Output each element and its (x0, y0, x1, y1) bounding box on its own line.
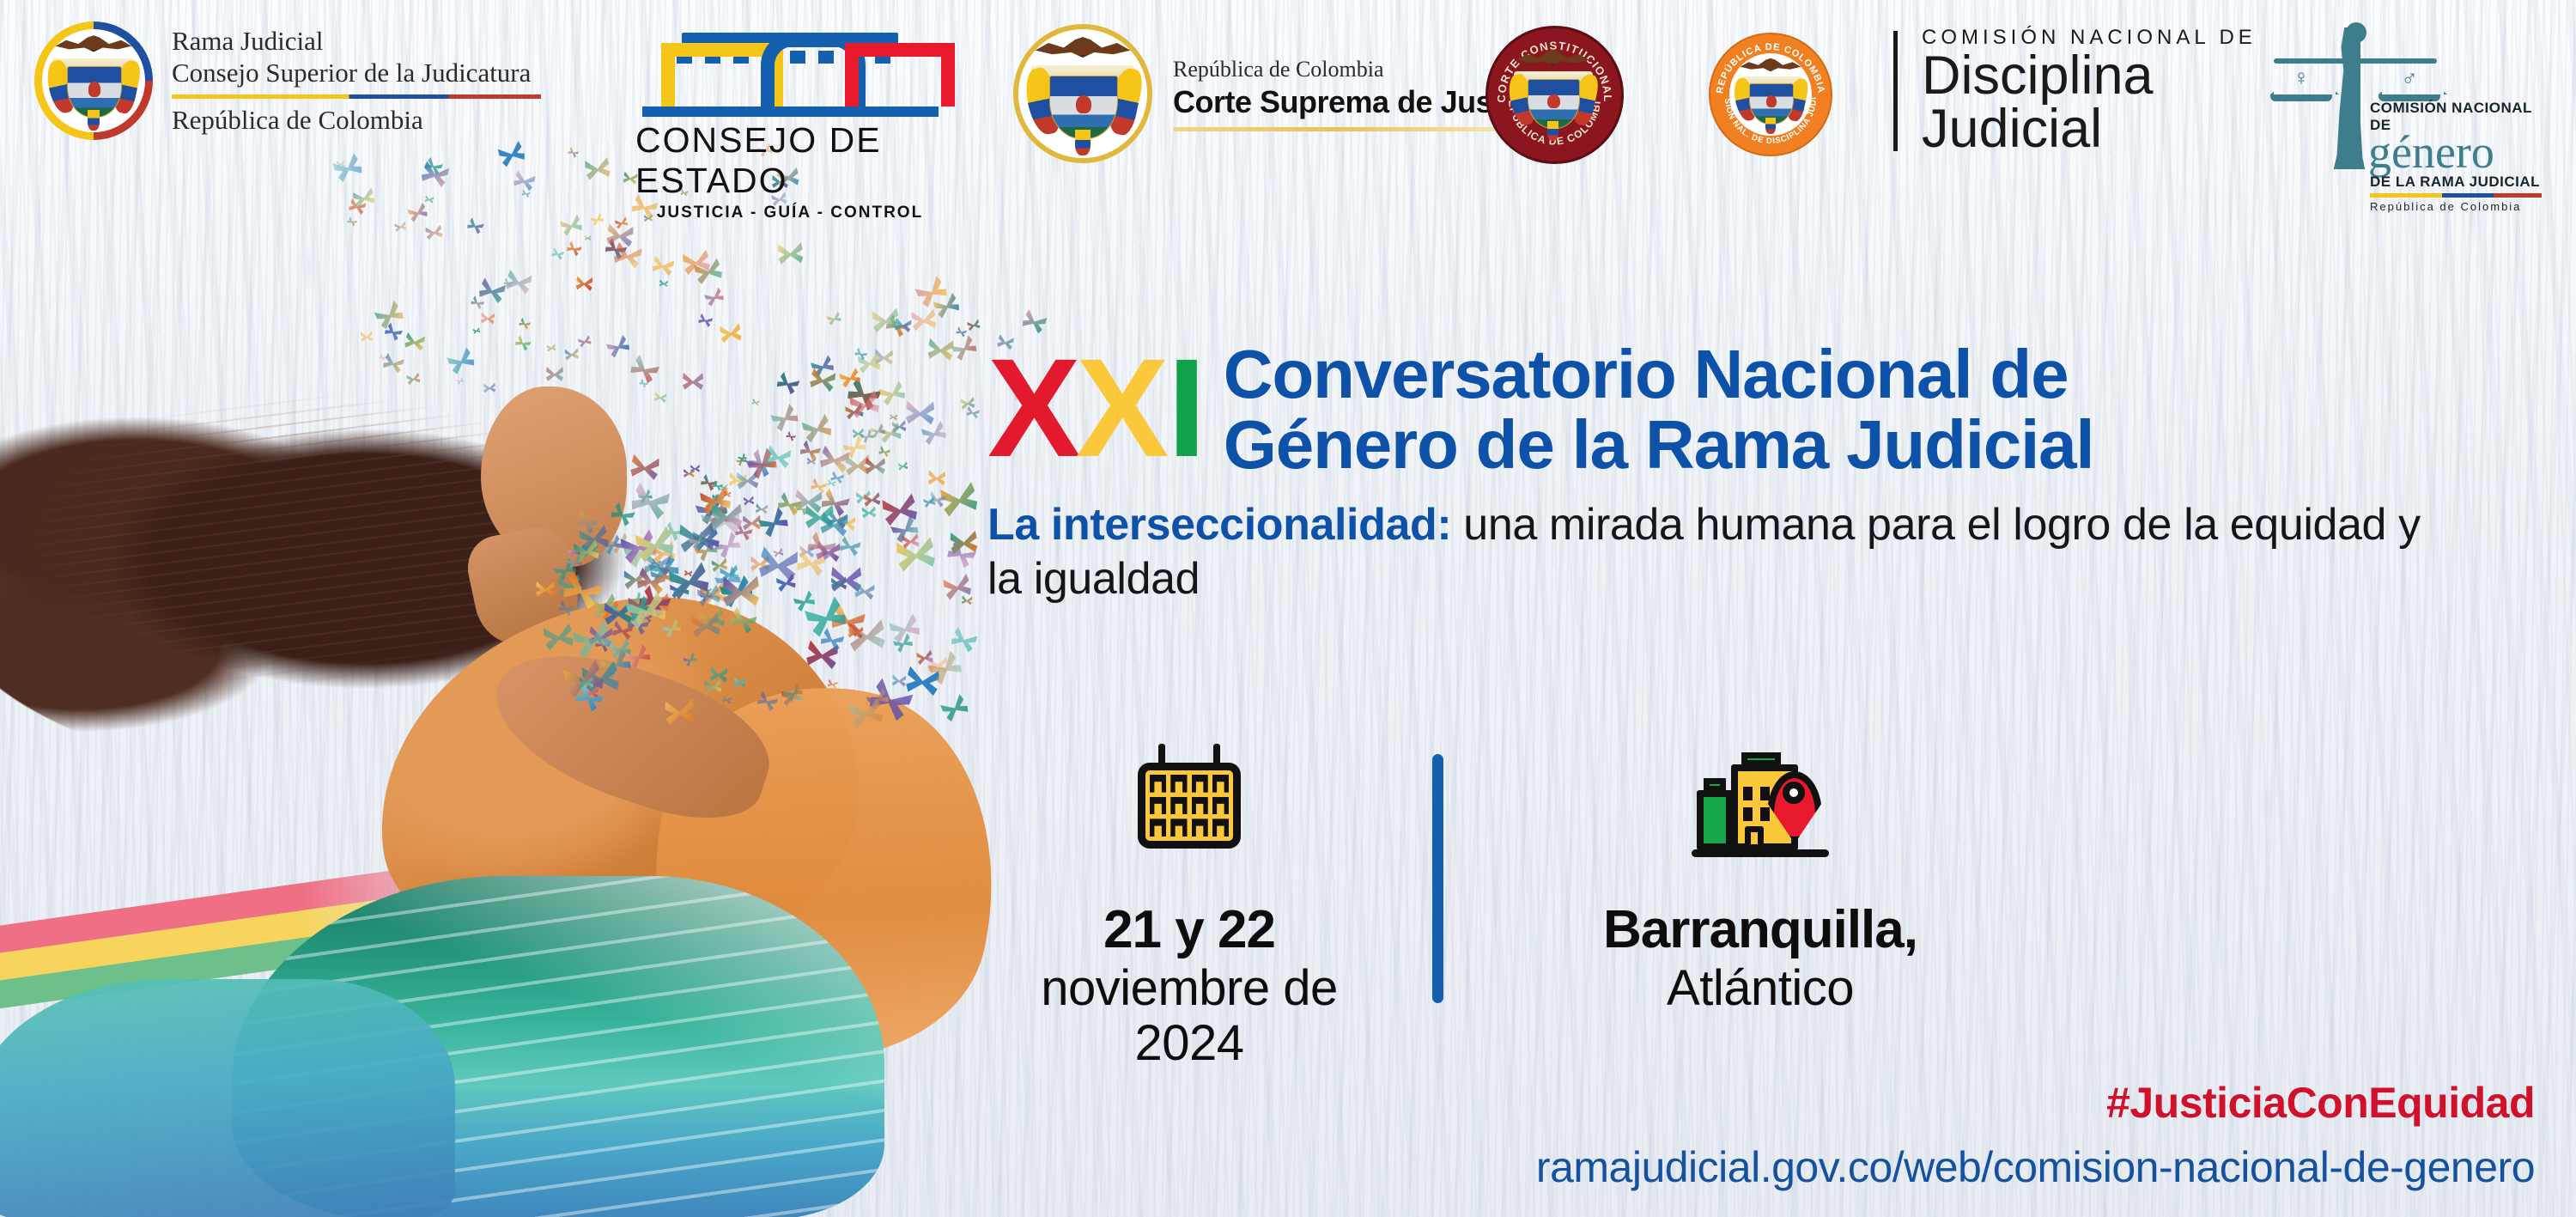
institutional-logo-bar: Rama Judicial Consejo Superior de la Jud… (0, 0, 2576, 210)
butterfly-icon (743, 496, 754, 505)
numeral-x1: X (987, 348, 1076, 468)
butterfly-icon (483, 383, 496, 393)
butterfly-icon (723, 576, 760, 607)
butterfly-icon (612, 241, 643, 269)
corte-suprema-seal-icon (1013, 24, 1152, 163)
butterfly-icon (712, 503, 743, 528)
butterfly-icon (950, 531, 978, 554)
butterfly-icon (854, 581, 876, 599)
location-block: Barranquilla, Atlántico (1537, 756, 1984, 1016)
butterfly-icon (697, 313, 714, 328)
event-title-block: X X I Conversatorio Nacional de Género d… (987, 339, 2559, 605)
genero-word: género (2368, 132, 2550, 172)
butterfly-icon (890, 414, 898, 421)
butterfly-icon (550, 247, 564, 260)
butterfly-icon (703, 287, 725, 307)
butterfly-icon (751, 399, 760, 406)
roman-numeral-xxi: X X I (987, 348, 1201, 468)
consejo-de-estado-tagline: JUSTICIA - GUÍA - CONTROL (657, 204, 923, 222)
butterfly-icon (939, 482, 980, 518)
butterfly-icon (830, 576, 847, 590)
disciplina-judicial-seal-icon: REPÚBLICA DE COLOMBIA COMISIÓN NAL. DE D… (1709, 33, 1832, 156)
butterfly-icon (862, 506, 877, 518)
butterfly-icon (809, 368, 837, 392)
butterfly-icon (724, 491, 732, 498)
woman-with-butterflies-illustration (0, 326, 987, 1217)
butterfly-icon (848, 625, 863, 638)
butterfly-icon (720, 323, 743, 343)
butterfly-icon (546, 344, 556, 351)
butterfly-icon (927, 470, 945, 486)
gold-rule (1173, 127, 1499, 131)
butterfly-icon (629, 454, 660, 481)
butterfly-icon (807, 458, 816, 466)
logo-comision-nacional-de-genero: ♀ ♂ COMISIÓN NACIONAL DE género DE LA RA… (2267, 24, 2550, 183)
butterfly-icon (927, 338, 954, 362)
arch-building-icon (642, 33, 939, 117)
butterfly-icon (923, 496, 937, 508)
butterfly-icon (605, 334, 631, 358)
female-symbol-icon: ♀ (2293, 64, 2310, 91)
calendar-icon (1138, 756, 1241, 850)
butterfly-icon (819, 512, 848, 537)
butterfly-icon (878, 446, 891, 458)
butterfly-icon (906, 401, 935, 425)
disciplina-line2: Judicial (1922, 103, 2257, 156)
butterfly-icon (950, 626, 979, 653)
butterfly-icon (536, 581, 555, 597)
butterfly-icon (777, 242, 804, 265)
date-block: 21 y 22 noviembre de 2024 (987, 756, 1391, 1071)
department-name: Atlántico (1537, 961, 1984, 1016)
butterfly-icon (665, 698, 696, 725)
numeral-x2: X (1076, 348, 1164, 468)
logo-consejo-de-estado: CONSEJO DE ESTADO JUSTICIA - GUÍA - CONT… (635, 33, 945, 222)
rama-judicial-line3: República de Colombia (172, 105, 541, 136)
butterfly-icon (579, 676, 593, 688)
butterfly-icon (755, 503, 768, 514)
butterfly-icon (734, 678, 745, 687)
butterfly-icon (786, 431, 797, 441)
city-name: Barranquilla, (1537, 902, 1984, 958)
corte-constitucional-seal-icon: CORTE CONSTITUCIONAL REPÚBLICA DE COLOMB… (1485, 26, 1624, 164)
logo-disciplina-judicial-wordmark: COMISIÓN NACIONAL DE Disciplina Judicial (1893, 26, 2257, 155)
butterfly-icon (704, 678, 722, 694)
title-line-2: Género de la Rama Judicial (1224, 410, 2094, 480)
butterfly-icon (757, 546, 799, 582)
butterfly-icon (690, 612, 720, 638)
butterfly-icon (683, 469, 695, 478)
butterfly-icon (775, 372, 800, 396)
genero-line2: DE LA RAMA JUDICIAL (2370, 173, 2550, 191)
vertical-rule (1893, 31, 1898, 151)
butterfly-icon (839, 536, 862, 557)
rama-judicial-line2: Consejo Superior de la Judicatura (172, 58, 541, 89)
subtitle-highlight: La interseccionalidad: (987, 500, 1451, 550)
logo-disciplina-judicial-seal: REPÚBLICA DE COLOMBIA COMISIÓN NAL. DE D… (1709, 33, 1832, 156)
butterfly-icon (939, 694, 970, 723)
butterfly-icon (394, 222, 407, 232)
butterfly-icon (892, 674, 907, 686)
butterfly-icon (920, 421, 948, 446)
butterfly-icon (897, 461, 908, 471)
website-url[interactable]: ramajudicial.gov.co/web/comision-naciona… (1536, 1142, 2535, 1192)
butterfly-icon (566, 240, 583, 257)
butterfly-icon (966, 406, 981, 419)
butterfly-icon (863, 492, 881, 507)
logo-corte-suprema: República de Colombia Corte Suprema de J… (1013, 24, 1552, 163)
event-details: 21 y 22 noviembre de 2024 Barranquilla, … (987, 756, 2361, 1013)
butterfly-icon (871, 307, 900, 333)
butterfly-icon (902, 533, 920, 550)
title-line-1: Conversatorio Nacional de (1224, 339, 2094, 410)
event-subtitle: La interseccionalidad: una mirada humana… (987, 498, 2430, 605)
butterfly-icon (827, 479, 835, 487)
butterfly-icon (653, 392, 667, 403)
butterfly-icon (659, 279, 669, 287)
male-symbol-icon: ♂ (2401, 64, 2418, 91)
butterfly-icon (629, 354, 660, 385)
butterfly-icon (590, 213, 605, 227)
butterfly-icon (950, 335, 978, 362)
butterfly-icon (564, 348, 579, 361)
butterfly-icon (559, 215, 583, 237)
butterfly-icon (466, 217, 485, 234)
butterfly-icon (546, 367, 563, 381)
vertical-divider (1432, 754, 1443, 1003)
genero-line3: República de Colombia (2370, 200, 2550, 213)
consejo-de-estado-title: CONSEJO DE ESTADO (635, 120, 945, 201)
butterfly-icon (361, 332, 374, 343)
butterfly-icon (866, 458, 885, 474)
logo-rama-judicial: Rama Judicial Consejo Superior de la Jud… (34, 21, 541, 140)
tricolor-rule-small (2370, 193, 2542, 198)
disciplina-line1: Disciplina (1922, 50, 2257, 103)
hashtag: #JusticiaConEquidad (2106, 1078, 2535, 1128)
numeral-i: I (1167, 348, 1200, 468)
butterfly-icon (651, 255, 675, 277)
tricolor-rule (172, 94, 541, 99)
butterfly-icon (472, 327, 480, 334)
butterfly-icon (404, 332, 426, 352)
butterfly-icon (514, 335, 532, 351)
rama-judicial-seal-icon (34, 21, 153, 140)
butterfly-icon (961, 595, 972, 605)
rama-judicial-line1: Rama Judicial (172, 26, 541, 58)
butterfly-icon (575, 276, 593, 291)
skirt-lower (0, 979, 455, 1217)
butterfly-icon (504, 270, 532, 295)
butterfly-icon (711, 558, 728, 573)
butterfly-icon (347, 216, 358, 227)
butterfly-icon (878, 380, 907, 407)
butterfly-icon (425, 224, 443, 240)
butterfly-icon (518, 318, 531, 331)
butterfly-icon (578, 335, 592, 348)
logo-corte-constitucional: CORTE CONSTITUCIONAL REPÚBLICA DE COLOMB… (1485, 26, 1624, 164)
butterfly-icon (826, 312, 841, 326)
butterfly-icon (911, 308, 938, 332)
city-location-icon (1692, 756, 1829, 859)
butterfly-icon (967, 319, 981, 331)
butterfly-icon (683, 373, 703, 390)
butterfly-icon (769, 403, 800, 432)
date-month-year: noviembre de 2024 (987, 961, 1391, 1071)
event-banner: Rama Judicial Consejo Superior de la Jud… (0, 0, 2576, 1217)
butterfly-icon (585, 235, 591, 240)
butterfly-icon (480, 312, 495, 324)
date-days: 21 y 22 (987, 902, 1391, 958)
